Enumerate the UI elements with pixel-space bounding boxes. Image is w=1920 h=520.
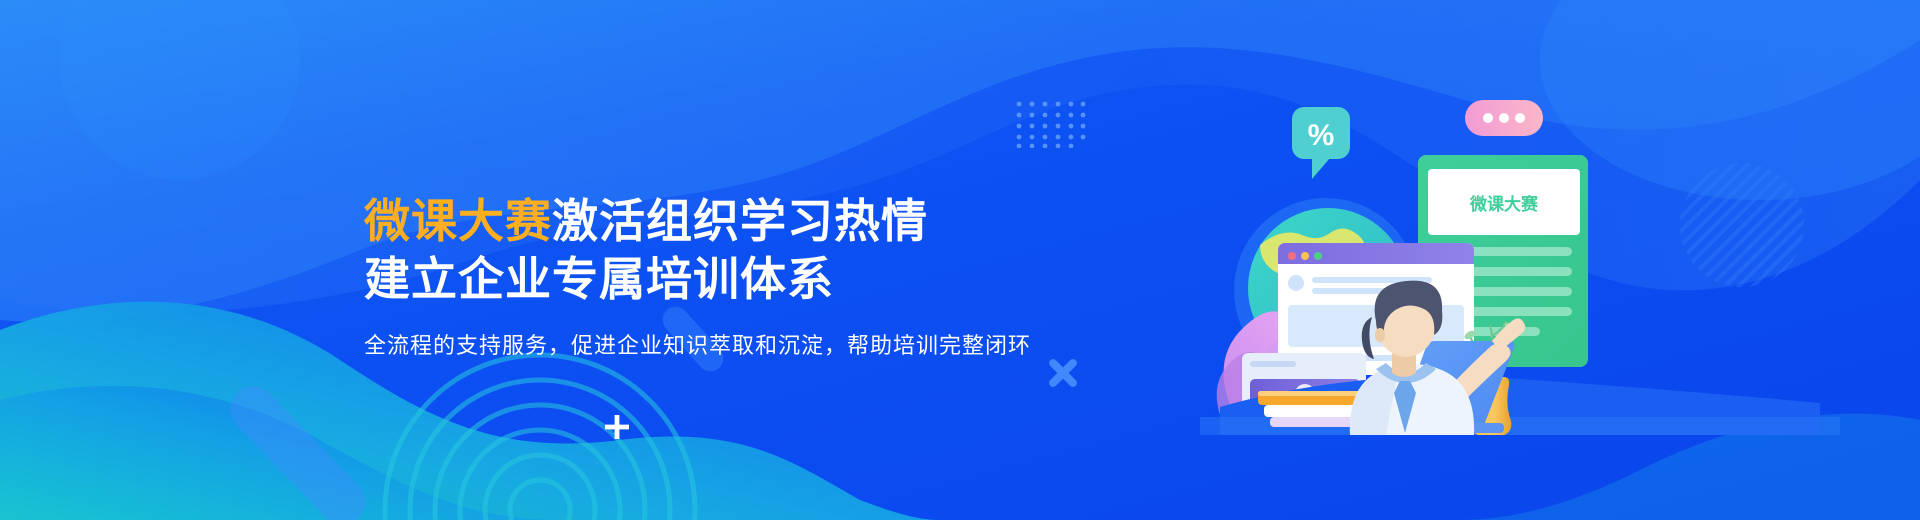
- board-card-title: 微课大赛: [1469, 194, 1539, 214]
- hero-illustration: % 微课大赛: [1200, 95, 1840, 435]
- banner-subtitle: 全流程的支持服务，促进企业知识萃取和沉淀，帮助培训完整闭环: [364, 330, 1124, 362]
- banner-text-block: 微课大赛激活组织学习热情 建立企业专属培训体系 全流程的支持服务，促进企业知识萃…: [364, 192, 1124, 362]
- illustration-svg: % 微课大赛: [1200, 95, 1840, 435]
- chat-bubble-icon: [1465, 100, 1543, 136]
- percent-speech-bubble: %: [1292, 107, 1350, 179]
- headline-line-1: 微课大赛激活组织学习热情: [364, 192, 1124, 250]
- percent-symbol: %: [1308, 119, 1335, 152]
- headline-line-2: 建立企业专属培训体系: [364, 250, 1124, 308]
- headline-rest: 激活组织学习热情: [552, 195, 928, 247]
- headline-accent: 微课大赛: [364, 195, 552, 247]
- promo-banner: 微课大赛激活组织学习热情 建立企业专属培训体系 全流程的支持服务，促进企业知识萃…: [0, 0, 1920, 520]
